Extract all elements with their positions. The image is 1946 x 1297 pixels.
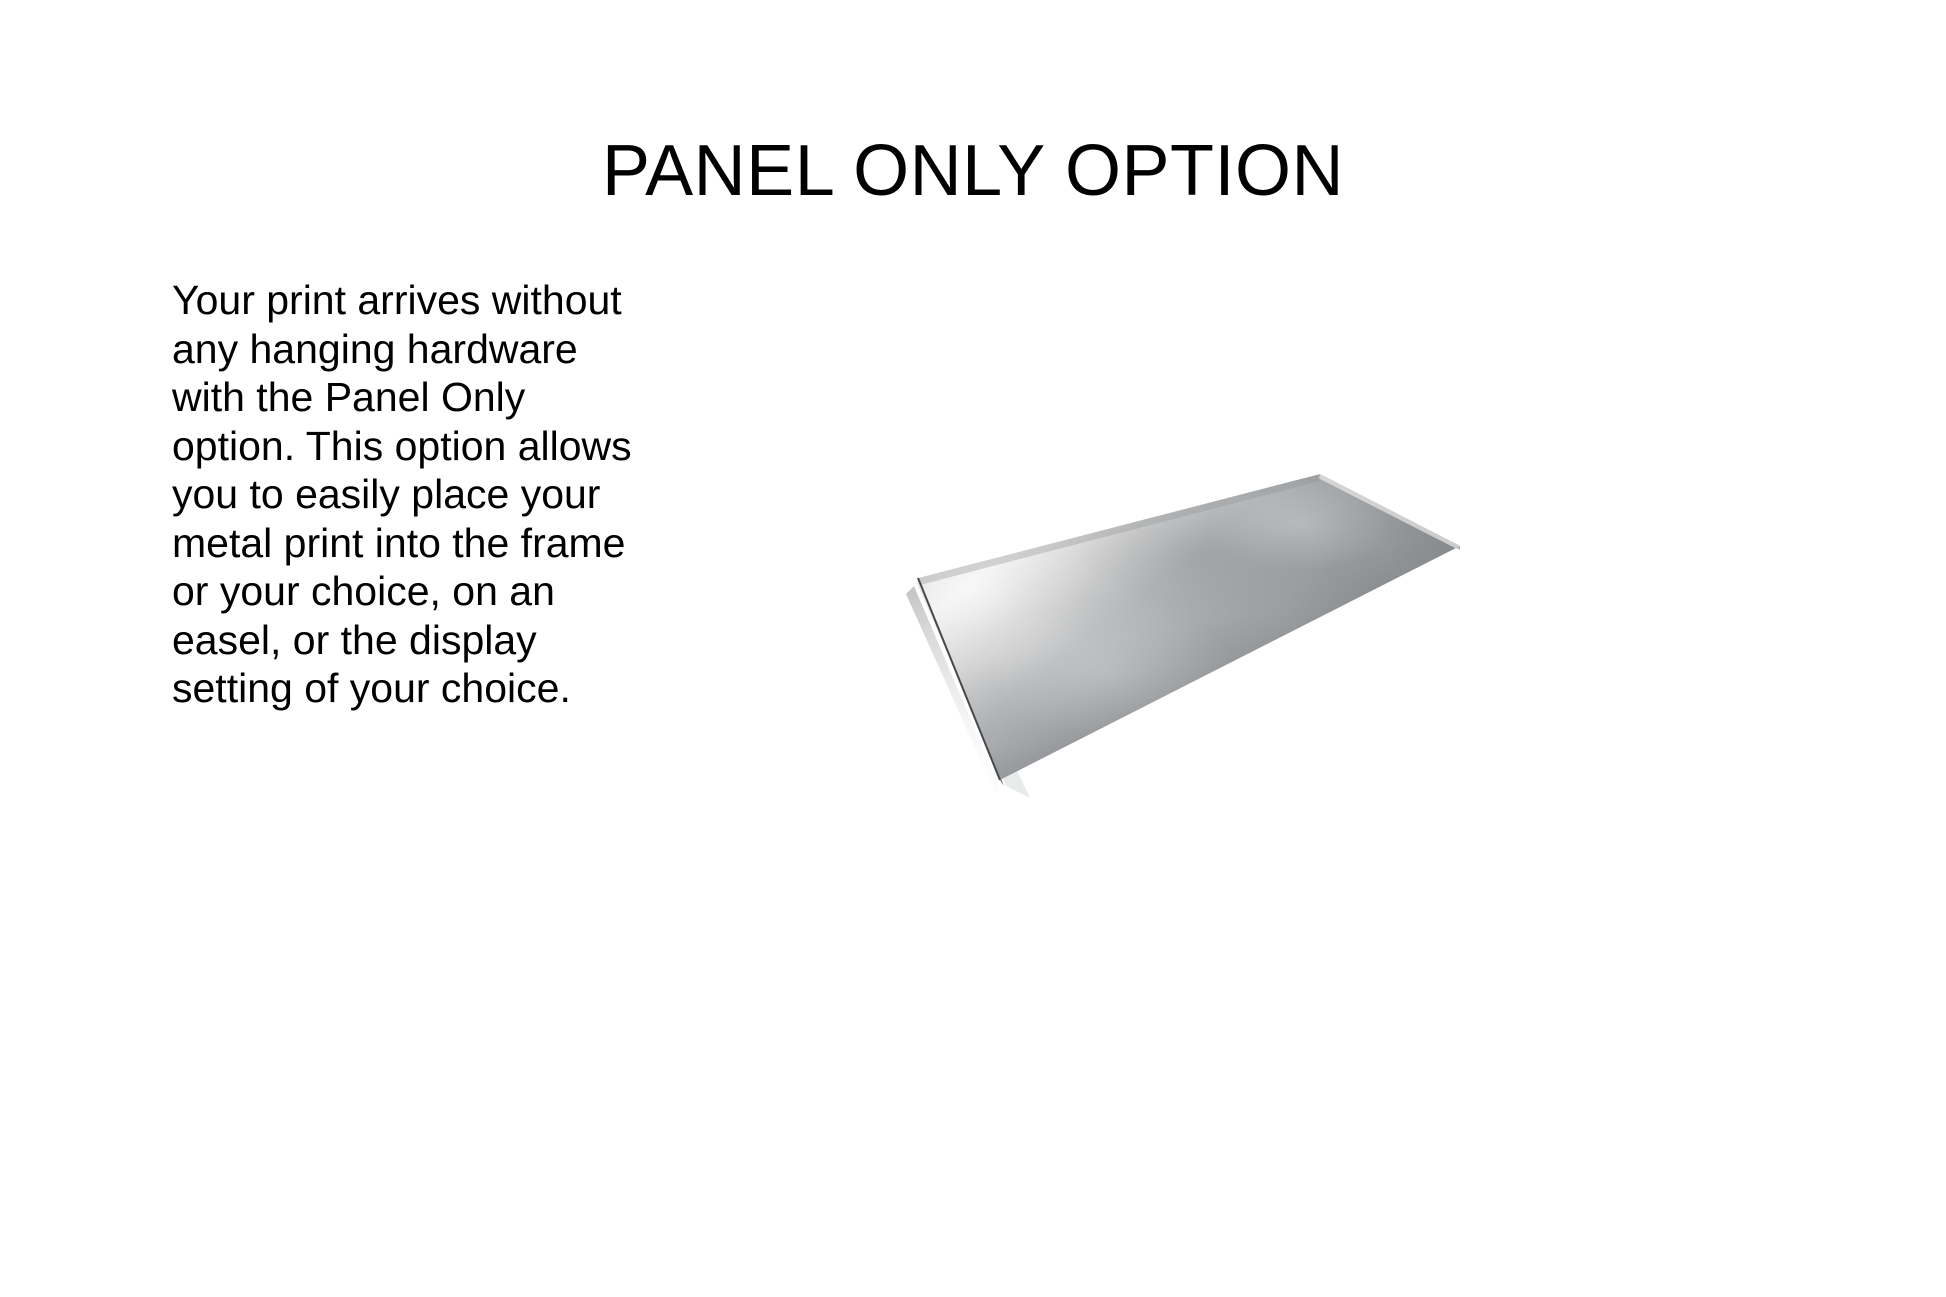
body-paragraph: Your print arrives without any hanging h… (172, 276, 642, 713)
page-title: PANEL ONLY OPTION (0, 134, 1946, 210)
panel-mottle-d (1280, 545, 1490, 655)
metal-panel-image (700, 350, 1490, 810)
panel-mottle-c (975, 600, 1235, 740)
metal-panel-illustration (700, 350, 1490, 810)
slide-canvas: PANEL ONLY OPTION Your print arrives wit… (0, 0, 1946, 1297)
